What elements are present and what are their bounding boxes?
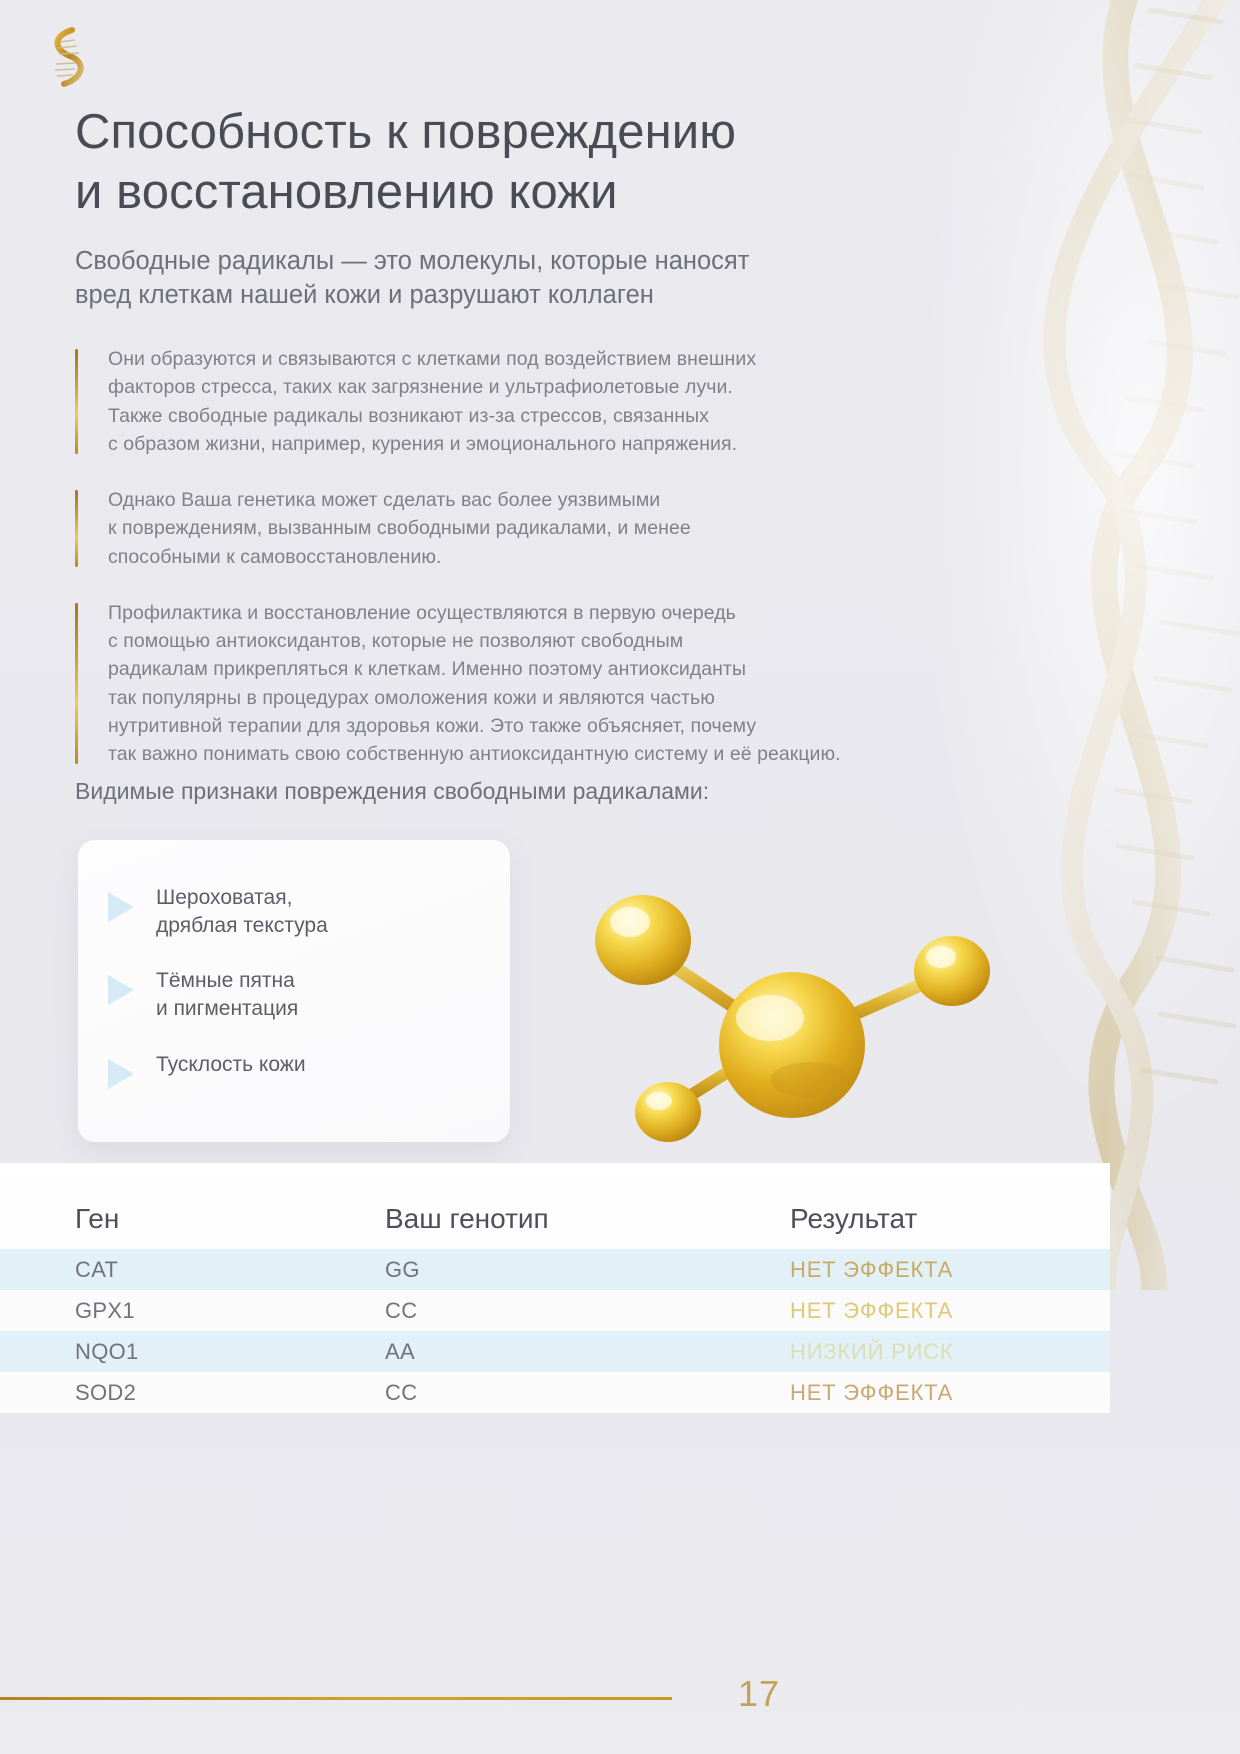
list-item-label: Шероховатая, дряблая текстура <box>156 882 328 939</box>
genotype-results-table: Ген Ваш генотип Результат CAT GG НЕТ ЭФФ… <box>0 1163 1110 1413</box>
table-row: SOD2 CC НЕТ ЭФФЕКТА <box>0 1372 1110 1413</box>
footer-gold-rule <box>0 1697 672 1700</box>
page-title: Способность к повреждению и восстановлен… <box>75 103 955 223</box>
paragraph-blocks: Они образуются и связываются с клетками … <box>75 345 955 768</box>
paragraph-text: Профилактика и восстановление осуществля… <box>108 599 955 769</box>
list-item-label: Тёмные пятна и пигментация <box>156 965 298 1022</box>
table-row: GPX1 CC НЕТ ЭФФЕКТА <box>0 1290 1110 1331</box>
cell-gene: SOD2 <box>75 1380 385 1406</box>
gold-accent-bar <box>75 490 78 567</box>
paragraph-block: Профилактика и восстановление осуществля… <box>75 599 955 769</box>
report-page: Способность к повреждению и восстановлен… <box>0 0 1240 1754</box>
gold-accent-bar <box>75 603 78 765</box>
column-header-result: Результат <box>790 1203 1110 1235</box>
cell-result: НЕТ ЭФФЕКТА <box>790 1257 1110 1283</box>
column-header-gene: Ген <box>75 1203 385 1235</box>
signs-list: Шероховатая, дряблая текстура Тёмные пят… <box>108 882 478 1089</box>
bottom-fade-overlay <box>0 1594 1240 1754</box>
triangle-bullet-icon <box>108 892 134 922</box>
page-subtitle: Свободные радикалы — это молекулы, котор… <box>75 245 950 313</box>
triangle-bullet-icon <box>108 1059 134 1089</box>
cell-result: НЕТ ЭФФЕКТА <box>790 1298 1110 1324</box>
paragraph-text: Однако Ваша генетика может сделать вас б… <box>108 486 955 571</box>
table-body: CAT GG НЕТ ЭФФЕКТА GPX1 CC НЕТ ЭФФЕКТА N… <box>0 1249 1110 1413</box>
list-item-label: Тусклость кожи <box>156 1049 306 1079</box>
list-item: Тусклость кожи <box>108 1049 478 1089</box>
right-glow-overlay <box>910 0 1240 1160</box>
cell-gene: GPX1 <box>75 1298 385 1324</box>
visible-signs-card: Шероховатая, дряблая текстура Тёмные пят… <box>78 840 510 1142</box>
list-item: Тёмные пятна и пигментация <box>108 965 478 1022</box>
page-number: 17 <box>738 1673 780 1715</box>
cell-genotype: CC <box>385 1298 790 1324</box>
dna-helix-icon <box>38 22 94 92</box>
cell-gene: CAT <box>75 1257 385 1283</box>
cell-genotype: GG <box>385 1257 790 1283</box>
gold-molecule-illustration <box>560 840 1040 1160</box>
cell-result: НЕТ ЭФФЕКТА <box>790 1380 1110 1406</box>
table-header-row: Ген Ваш генотип Результат <box>0 1163 1110 1249</box>
visible-signs-heading: Видимые признаки повреждения свободными … <box>75 778 709 805</box>
table-row: NQO1 AA НИЗКИЙ РИСК <box>0 1331 1110 1372</box>
cell-genotype: CC <box>385 1380 790 1406</box>
paragraph-text: Они образуются и связываются с клетками … <box>108 345 955 458</box>
paragraph-block: Они образуются и связываются с клетками … <box>75 345 955 458</box>
paragraph-block: Однако Ваша генетика может сделать вас б… <box>75 486 955 571</box>
cell-result: НИЗКИЙ РИСК <box>790 1339 1110 1365</box>
table-row: CAT GG НЕТ ЭФФЕКТА <box>0 1249 1110 1290</box>
cell-genotype: AA <box>385 1339 790 1365</box>
triangle-bullet-icon <box>108 975 134 1005</box>
list-item: Шероховатая, дряблая текстура <box>108 882 478 939</box>
gold-accent-bar <box>75 349 78 454</box>
cell-gene: NQO1 <box>75 1339 385 1365</box>
column-header-genotype: Ваш генотип <box>385 1203 790 1235</box>
